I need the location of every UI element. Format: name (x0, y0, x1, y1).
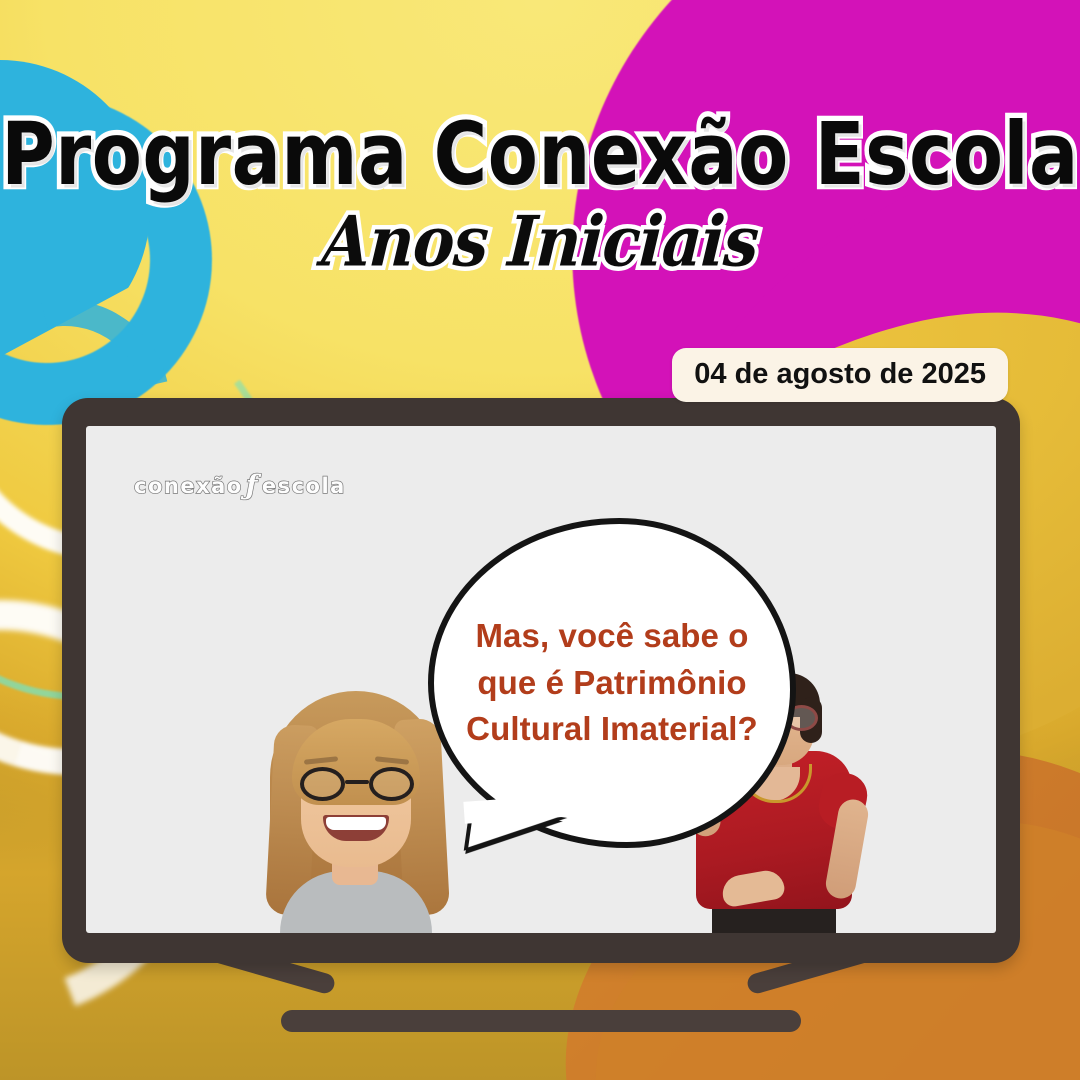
presenter-lens-left (300, 767, 345, 801)
television-screen: conexão ƒ escola Mas, você sabe o que é … (86, 426, 996, 933)
presenter-glasses-icon (298, 767, 416, 801)
tv-stand-foot (281, 1010, 801, 1032)
television-frame: conexão ƒ escola Mas, você sabe o que é … (62, 398, 1020, 963)
date-badge: 04 de agosto de 2025 (672, 348, 1008, 402)
logo-word-right: escola (262, 474, 346, 498)
speech-bubble-text: Mas, você sabe o que é Patrimônio Cultur… (434, 613, 790, 754)
presenter-avatar (254, 673, 459, 933)
logo-divider-icon: ƒ (246, 470, 259, 501)
presenter-lens-right (369, 767, 414, 801)
page-subtitle: Anos Iniciais (0, 207, 1080, 276)
presenter-glasses-bridge (345, 780, 369, 784)
conexao-escola-logo: conexão ƒ escola (134, 470, 346, 501)
presenter-teeth (326, 817, 386, 830)
page-title: Programa Conexão Escola (0, 112, 1080, 198)
speech-bubble: Mas, você sabe o que é Patrimônio Cultur… (428, 518, 796, 848)
poster-canvas: Programa Conexão Escola Anos Iniciais 04… (0, 0, 1080, 1080)
poster-headline: Programa Conexão Escola Anos Iniciais (0, 112, 1080, 273)
logo-word-left: conexão (134, 474, 243, 498)
